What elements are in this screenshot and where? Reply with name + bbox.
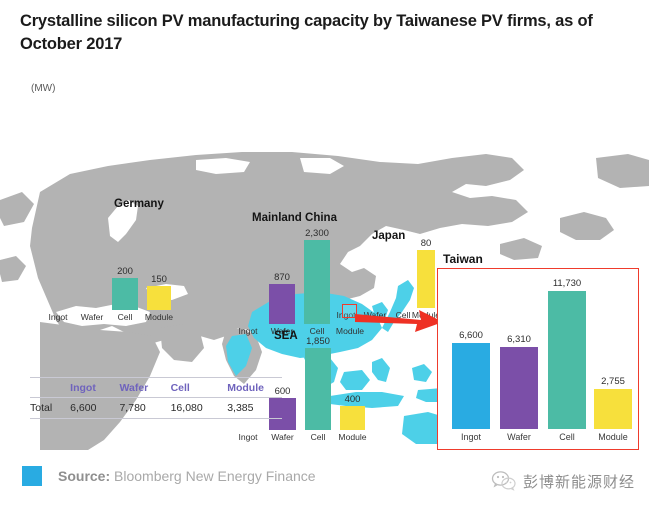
table-header-cell: Module [227,382,282,394]
summary-table: Ingot Wafer Cell Module Total 6,600 7,78… [30,377,282,419]
source-line: Source: Bloomberg New Energy Finance [22,466,316,486]
bar-label: Wafer [271,430,294,442]
table-cell: 3,385 [227,402,282,414]
bar-value: 1,850 [306,336,330,348]
bar-module [147,286,171,310]
landmass-scrap-left2 [0,256,26,282]
wechat-icon [491,470,517,492]
bar-label: Ingot [238,430,257,442]
bar-cell [112,278,138,310]
bar-label: Cell [118,310,133,322]
highlight-pacific-islands [412,364,432,382]
inset-bar-label: Ingot [461,429,481,442]
landmass-scrap-right2 [500,238,542,260]
inset-bar-group-cell[interactable]: 11,730 Cell [548,291,586,429]
bar-group-module[interactable]: 400 Module [340,406,365,430]
bar-value: 870 [274,272,290,284]
bar-group-wafer[interactable]: 870 Wafer [269,284,295,324]
table-header-row: Ingot Wafer Cell Module [30,377,282,398]
bar-label: Wafer [81,310,104,322]
inset-bar-value: 6,310 [507,334,531,347]
bar-value: 2,300 [305,228,329,240]
taiwan-inset-panel: 6,600 Ingot 6,310 Wafer 11,730 Cell 2,75… [437,268,639,450]
bar-label: Ingot [48,310,67,322]
bar-label: Module [338,430,366,442]
inset-title-taiwan: Taiwan [443,252,483,266]
inset-bar-group-module[interactable]: 2,755 Module [594,389,632,429]
landmass-scrap-topright [596,154,649,188]
bar-label: Module [145,310,173,322]
bar-label: Cell [311,430,326,442]
inset-bar-ingot [452,343,490,429]
bar-value: 400 [345,394,361,406]
bar-module [340,406,365,430]
cluster-label-japan: Japan [372,230,405,242]
source-color-swatch [22,466,42,486]
bar-value: 200 [117,266,133,278]
source-name: Bloomberg New Energy Finance [114,468,316,484]
brand-name: 彭博新能源财经 [523,471,635,492]
inset-bar-cell [548,291,586,429]
red-arrow-icon [355,300,445,336]
inset-bar-value: 2,755 [601,376,625,389]
inset-bar-module [594,389,632,429]
chart-page: Crystalline silicon PV manufacturing cap… [0,0,649,507]
inset-bar-value: 11,730 [553,278,581,291]
cluster-germany: Germany Ingot Wafer 200 Cell 150 Module [42,198,182,318]
landmass-scrap-left [0,192,34,226]
table-header-cell: Wafer [119,382,170,394]
bar-group-cell[interactable]: 1,850 Cell [305,348,331,430]
inset-bar-group-ingot[interactable]: 6,600 Ingot [452,343,490,429]
inset-bar-label: Cell [559,429,575,442]
table-cell: 6,600 [70,402,119,414]
table-cell: 16,080 [171,402,228,414]
table-cell: 7,780 [119,402,170,414]
table-header-cell: Ingot [70,382,119,394]
bar-group-cell[interactable]: 2,300 Cell [304,240,330,324]
cluster-label-sea: SEA [274,330,298,342]
source-text: Source: Bloomberg New Energy Finance [58,468,316,484]
bar-cell [304,240,330,324]
bar-wafer [269,284,295,324]
table-row: Total 6,600 7,780 16,080 3,385 [30,398,282,419]
source-prefix: Source: [58,468,110,484]
table-header-cell: Cell [171,382,228,394]
page-title: Crystalline silicon PV manufacturing cap… [20,10,620,56]
inset-bar-label: Wafer [507,429,531,442]
taiwan-inset-plot: 6,600 Ingot 6,310 Wafer 11,730 Cell 2,75… [446,283,630,429]
unit-label: (MW) [31,83,55,94]
cluster-label-mainland-china: Mainland China [252,212,337,224]
bar-group-cell[interactable]: 200 Cell [112,278,138,310]
landmass-scrap-right [560,212,614,240]
table-row-label: Total [30,402,70,414]
bar-cell [305,348,331,430]
bar-value: 150 [151,274,167,286]
inset-bar-value: 6,600 [459,330,483,343]
bar-value: 80 [421,238,432,250]
inset-bar-label: Module [598,429,628,442]
inset-bar-wafer [500,347,538,429]
brand-footer: 彭博新能源财经 [491,470,635,492]
bar-group-module[interactable]: 150 Module [147,286,171,310]
cluster-label-germany: Germany [114,198,164,210]
inset-bar-group-wafer[interactable]: 6,310 Wafer [500,347,538,429]
